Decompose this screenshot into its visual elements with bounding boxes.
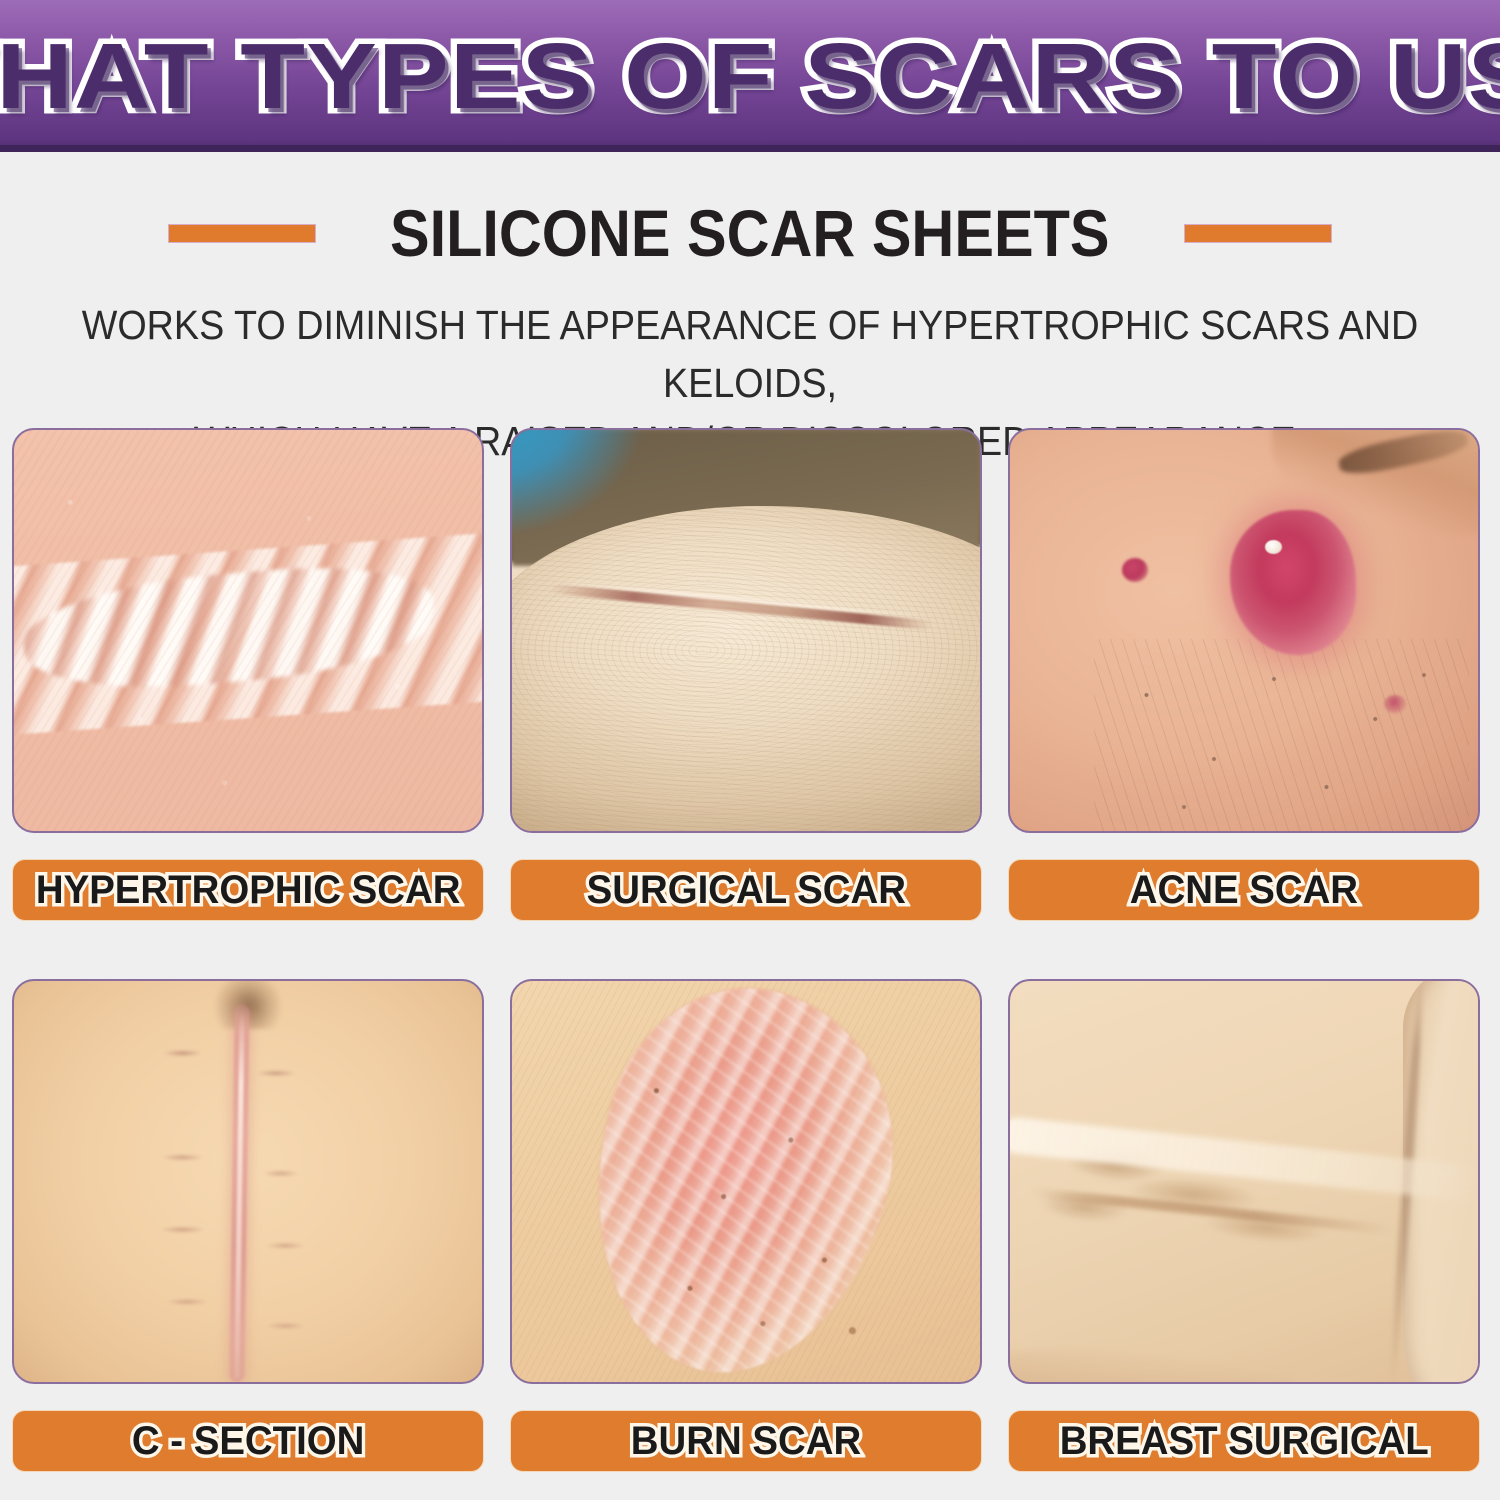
photo-burn-scar bbox=[510, 979, 982, 1384]
gallery-item-surgical-scar: SURGICAL SCAR bbox=[510, 428, 982, 921]
photo-breast-surgical-scar bbox=[1008, 979, 1480, 1384]
badge-breast-surgical-scar: BREAST SURGICAL bbox=[1008, 1410, 1480, 1472]
badge-label: HYPERTROPHIC SCAR bbox=[36, 868, 461, 912]
badge-label: C - SECTION bbox=[132, 1419, 365, 1463]
badge-burn-scar: BURN SCAR bbox=[510, 1410, 982, 1472]
teal-corner-accent bbox=[510, 428, 643, 534]
photo-c-section-scar bbox=[12, 979, 484, 1384]
header-banner: WHAT TYPES OF SCARS TO USE ON bbox=[0, 0, 1500, 152]
skin-grain-texture bbox=[14, 430, 482, 831]
rule-bar-right bbox=[1184, 224, 1332, 243]
infographic-page: WHAT TYPES OF SCARS TO USE ON SILICONE S… bbox=[0, 0, 1500, 1500]
burn-specks bbox=[606, 1013, 887, 1366]
stubble-texture bbox=[1094, 639, 1468, 833]
badge-label: BURN SCAR bbox=[631, 1419, 861, 1463]
gallery-item-breast-surgical-scar: BREAST SURGICAL bbox=[1008, 979, 1480, 1472]
rule-bar-left bbox=[168, 224, 316, 243]
badge-hypertrophic-scar: HYPERTROPHIC SCAR bbox=[12, 859, 484, 921]
badge-label: BREAST SURGICAL bbox=[1059, 1419, 1428, 1463]
tertiary-pimple bbox=[1384, 695, 1406, 713]
skin-wrinkle-texture bbox=[510, 506, 982, 833]
badge-label: SURGICAL SCAR bbox=[586, 868, 905, 912]
section-title-row: SILICONE SCAR SHEETS bbox=[0, 190, 1500, 276]
gallery-item-burn-scar: BURN SCAR bbox=[510, 979, 982, 1472]
badge-acne-scar: ACNE SCAR bbox=[1008, 859, 1480, 921]
gallery-item-hypertrophic-scar: HYPERTROPHIC SCAR bbox=[12, 428, 484, 921]
gallery-item-acne-scar: ACNE SCAR bbox=[1008, 428, 1480, 921]
section-title: SILICONE SCAR SHEETS bbox=[390, 198, 1110, 268]
photo-acne-scar bbox=[1008, 428, 1480, 833]
header-banner-title: WHAT TYPES OF SCARS TO USE ON bbox=[0, 28, 1500, 124]
bottom-shadow bbox=[1008, 1332, 1293, 1384]
scar-type-gallery: HYPERTROPHIC SCAR SURGICAL SCAR bbox=[12, 428, 1488, 1472]
badge-surgical-scar: SURGICAL SCAR bbox=[510, 859, 982, 921]
photo-surgical-scar bbox=[510, 428, 982, 833]
badge-label: ACNE SCAR bbox=[1130, 868, 1358, 912]
acne-lesion bbox=[1230, 510, 1356, 654]
gallery-item-c-section-scar: C - SECTION bbox=[12, 979, 484, 1472]
photo-hypertrophic-scar bbox=[12, 428, 484, 833]
subtitle-line-1: WORKS TO DIMINISH THE APPEARANCE OF HYPE… bbox=[82, 302, 1419, 406]
badge-c-section-scar: C - SECTION bbox=[12, 1410, 484, 1472]
secondary-pimple bbox=[1122, 558, 1148, 582]
